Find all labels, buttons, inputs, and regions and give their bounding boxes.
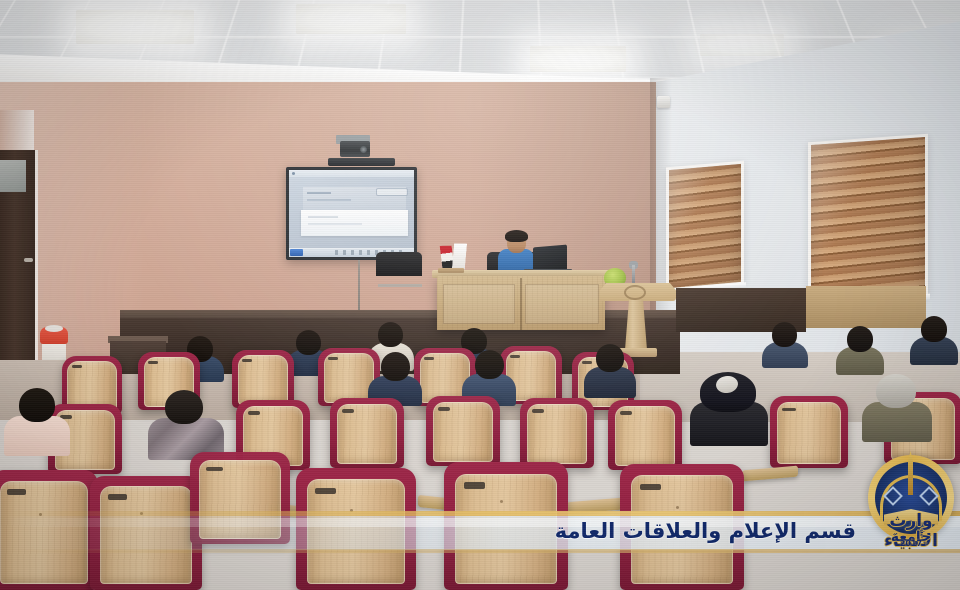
seat-handle-slot: [328, 357, 339, 360]
screen-titlebar-dot-icon: [292, 172, 295, 175]
screen-top-rail: [328, 158, 395, 166]
panel-light-3: [700, 34, 784, 56]
screen-card-line: [308, 223, 362, 225]
auditorium-seat[interactable]: [426, 396, 500, 466]
seat-wood-panel: [307, 479, 405, 584]
trash-bin-lid-highlight: [45, 325, 63, 332]
panel-light-2: [296, 4, 406, 34]
screen-card-line: [308, 216, 338, 218]
seat-handle-slot: [7, 489, 25, 495]
entry-door[interactable]: [0, 150, 38, 365]
lecture-hall-photo: قسم الإعلام والعلاقات العامة وارث الأنبي…: [0, 0, 960, 590]
screen-start-button-icon: [290, 249, 303, 256]
auditorium-seat[interactable]: [296, 468, 416, 590]
seat-handle-slot: [342, 409, 355, 413]
seat-wood-panel: [337, 404, 398, 464]
seat-wood-panel: [100, 486, 192, 584]
auditorium-seat[interactable]: [608, 400, 682, 470]
auditorium-seat[interactable]: [444, 462, 568, 590]
head-table-panel-left: [443, 284, 515, 324]
projection-screen-surface: [289, 170, 414, 257]
white-flag: [452, 242, 467, 269]
attendee-body: [862, 402, 932, 442]
seat-armrest: [566, 498, 622, 515]
head-table-seam: [520, 278, 522, 330]
attendee-head: [381, 352, 410, 381]
seat-handle-slot: [424, 357, 435, 360]
seat-handle-slot: [464, 482, 485, 488]
side-cabinet-wood: [806, 286, 926, 328]
seat-wood-panel: [777, 402, 841, 464]
projection-screen[interactable]: [286, 167, 417, 260]
auditorium-seat[interactable]: [770, 396, 848, 468]
window-right-blind[interactable]: [811, 137, 925, 301]
attendee-head: [378, 322, 403, 347]
seat-screw: [676, 506, 679, 509]
attendee-cleric: [690, 370, 768, 440]
seat-wood-panel: [199, 460, 281, 539]
attendee-head: [772, 322, 797, 347]
seat-handle-slot: [438, 407, 451, 411]
attendee-head: [475, 350, 504, 379]
panel-light-5: [530, 46, 626, 72]
seat-wood-panel: [324, 353, 375, 403]
presenter-hair: [505, 230, 528, 242]
warith-al-anbiyaa-university-logo: وارث الأنبياء جامعة 2017: [862, 449, 960, 554]
window-right: [808, 134, 928, 304]
seat-handle-slot: [640, 484, 661, 490]
seat-handle-slot: [315, 488, 335, 494]
seat-handle-slot: [148, 361, 159, 364]
attendee-row3-b: [584, 344, 636, 394]
screen-stand-foot: [378, 284, 422, 287]
attendee-head: [596, 344, 624, 372]
attendee-row1-left: [4, 388, 70, 450]
window-left-blind[interactable]: [669, 164, 741, 288]
seat-handle-slot: [620, 411, 633, 415]
seat-screw: [39, 513, 42, 516]
screen-dialog-button: [376, 188, 408, 196]
podium-emblem-icon: [624, 285, 646, 300]
attendee-head: [876, 374, 916, 408]
seat-wood-panel: [433, 402, 494, 462]
ceiling-projector: [340, 141, 370, 157]
seat-handle-slot: [248, 411, 261, 415]
head-table-chair-empty: [376, 252, 422, 276]
seat-wood-panel: [527, 404, 588, 464]
attendee-head: [847, 326, 873, 352]
screen-dialog-card: [301, 210, 408, 236]
attendee-head: [165, 390, 203, 424]
seat-armrest: [742, 466, 798, 482]
attendee-row1-hijab: [148, 390, 224, 454]
seat-wood-panel: [238, 355, 289, 405]
head-table-panel-right: [525, 284, 599, 324]
door-window-pane: [0, 160, 26, 192]
auditorium-seat[interactable]: [190, 452, 290, 544]
auditorium-seat[interactable]: [0, 470, 98, 590]
seat-wood-panel: [0, 481, 88, 584]
flag-stand-base: [438, 268, 464, 273]
attendee-row3-d: [836, 326, 884, 372]
attendee-row2-e: [368, 352, 422, 402]
seat-handle-slot: [782, 408, 795, 412]
logo-founding-year: 2017: [896, 539, 926, 548]
seat-handle-slot: [242, 359, 253, 362]
seat-handle-slot: [72, 365, 82, 368]
podium-microphone-stem: [632, 265, 635, 285]
attendee-head: [921, 316, 947, 342]
screen-text-line: [307, 192, 331, 194]
seat-handle-slot: [206, 467, 223, 472]
screen-text-line: [307, 199, 351, 201]
attendee-row3-a: [462, 350, 516, 402]
seat-handle-slot: [108, 494, 127, 500]
seat-wood-panel: [615, 406, 676, 466]
screen-titlebar: [289, 170, 414, 177]
attendee-body: [4, 416, 70, 456]
attendee-elder: [862, 374, 932, 436]
auditorium-seat[interactable]: [330, 398, 404, 468]
window-left: [666, 161, 744, 292]
attendee-row3-c: [762, 322, 808, 366]
auditorium-seat[interactable]: [520, 398, 594, 468]
attendee-head: [19, 388, 55, 422]
auditorium-seat[interactable]: [90, 476, 202, 590]
auditorium-seat[interactable]: [620, 464, 744, 590]
motion-sensor-icon: [657, 96, 670, 108]
seat-wood-panel: [631, 475, 733, 583]
panel-light-1: [76, 10, 194, 44]
seat-wood-panel: [455, 474, 557, 584]
seat-handle-slot: [532, 409, 545, 413]
projector-lens-icon: [360, 146, 367, 153]
door-handle[interactable]: [24, 258, 33, 262]
attendee-row3-e: [910, 316, 958, 362]
